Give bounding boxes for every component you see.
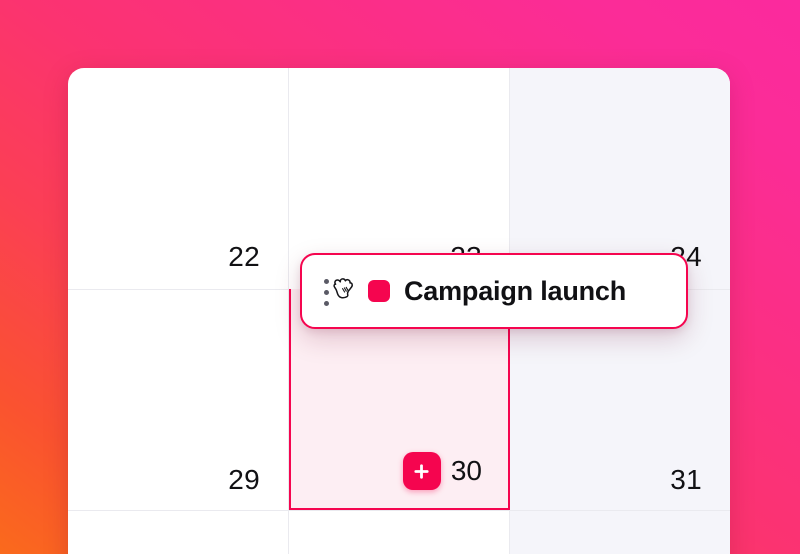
calendar-day-30[interactable]: 30 (451, 457, 482, 485)
dragged-event-card[interactable]: Campaign launch (300, 253, 688, 329)
event-title: Campaign launch (404, 278, 626, 305)
plus-icon (413, 463, 430, 480)
drag-handle[interactable] (324, 274, 354, 308)
event-color-swatch (368, 280, 390, 302)
screen-background: 22 23 24 29 31 30 (0, 0, 800, 554)
add-event-button[interactable] (403, 452, 441, 490)
add-event-row: 30 (403, 452, 482, 490)
grid-horizontal-line-2 (68, 510, 730, 511)
grabbing-hand-icon (331, 275, 355, 303)
calendar-day-22[interactable]: 22 (68, 243, 288, 271)
calendar-day-29[interactable]: 29 (68, 466, 288, 494)
calendar-day-31[interactable]: 31 (510, 466, 730, 494)
drag-handle-dots-icon (324, 279, 329, 306)
